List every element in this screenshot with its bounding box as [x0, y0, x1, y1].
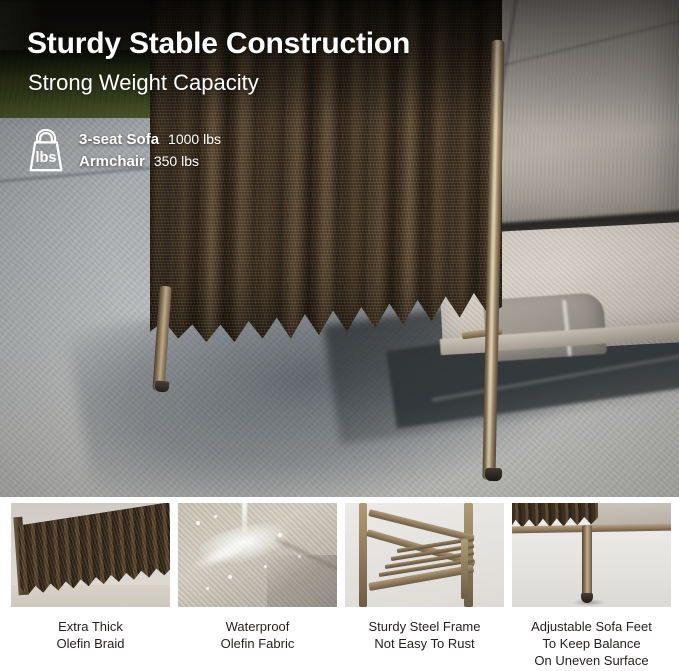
caption-line-1: Waterproof	[178, 618, 337, 635]
foot-thumb-leg	[582, 525, 592, 601]
thumbnail-caption-3: Sturdy Steel Frame Not Easy To Rust	[345, 618, 504, 652]
thumbnail-image-braid-closeup[interactable]	[11, 503, 170, 607]
braid-thumb-floor	[11, 585, 170, 607]
thumbnail-caption-2: Waterproof Olefin Fabric	[178, 618, 337, 652]
weight-capacity-badge: lbs 3-seat Sofa 1000 lbs Armchair 350 lb…	[24, 126, 221, 174]
thumbnail-item-waterproof-olefin-fabric[interactable]: Waterproof Olefin Fabric	[178, 503, 337, 669]
frame-vertical-bar-left	[359, 503, 367, 607]
thumbnail-list: Extra Thick Olefin Braid	[11, 503, 668, 669]
weight-icon-label: lbs	[36, 150, 57, 166]
capacity-row-sofa: 3-seat Sofa 1000 lbs	[79, 131, 221, 148]
hero-subtitle: Strong Weight Capacity	[28, 70, 259, 96]
caption-line-3: On Uneven Surface	[512, 652, 671, 669]
caption-line-2: To Keep Balance	[512, 635, 671, 652]
thumbnail-item-adjustable-sofa-feet[interactable]: Adjustable Sofa Feet To Keep Balance On …	[512, 503, 671, 669]
hero-banner: Sturdy Stable Construction Strong Weight…	[0, 0, 679, 497]
caption-line-1: Sturdy Steel Frame	[345, 618, 504, 635]
caption-line-2: Olefin Fabric	[178, 635, 337, 652]
sofa-foot-left	[155, 381, 170, 393]
capacity-label-sofa: 3-seat Sofa	[79, 131, 159, 148]
feature-thumbnail-strip: Extra Thick Olefin Braid	[0, 497, 679, 671]
thumbnail-image-steel-frame[interactable]	[345, 503, 504, 607]
thumbnail-caption-4: Adjustable Sofa Feet To Keep Balance On …	[512, 618, 671, 669]
capacity-value-armchair: 350 lbs	[154, 153, 199, 169]
water-droplet	[214, 515, 217, 518]
water-droplet	[228, 575, 232, 579]
caption-line-2: Not Easy To Rust	[345, 635, 504, 652]
weight-lbs-icon: lbs	[24, 126, 68, 174]
hero-title: Sturdy Stable Construction	[27, 27, 410, 61]
water-droplet	[196, 521, 200, 525]
caption-line-2: Olefin Braid	[11, 635, 170, 652]
thumbnail-image-water-on-fabric[interactable]	[178, 503, 337, 607]
capacity-label-armchair: Armchair	[79, 153, 145, 170]
capacity-row-armchair: Armchair 350 lbs	[79, 153, 221, 170]
thumbnail-item-sturdy-steel-frame[interactable]: Sturdy Steel Frame Not Easy To Rust	[345, 503, 504, 669]
caption-line-1: Extra Thick	[11, 618, 170, 635]
water-droplet	[206, 587, 209, 590]
capacity-value-sofa: 1000 lbs	[168, 131, 221, 147]
caption-line-1: Adjustable Sofa Feet	[512, 618, 671, 635]
capacity-list: 3-seat Sofa 1000 lbs Armchair 350 lbs	[79, 131, 221, 170]
sofa-foot-right	[485, 468, 502, 481]
thumbnail-item-extra-thick-olefin-braid[interactable]: Extra Thick Olefin Braid	[11, 503, 170, 669]
fabric-thumb-shadow	[267, 555, 337, 607]
frame-shelf-side-rail	[461, 539, 468, 599]
thumbnail-image-sofa-foot[interactable]	[512, 503, 671, 607]
water-droplet	[278, 533, 282, 537]
thumbnail-caption-1: Extra Thick Olefin Braid	[11, 618, 170, 652]
